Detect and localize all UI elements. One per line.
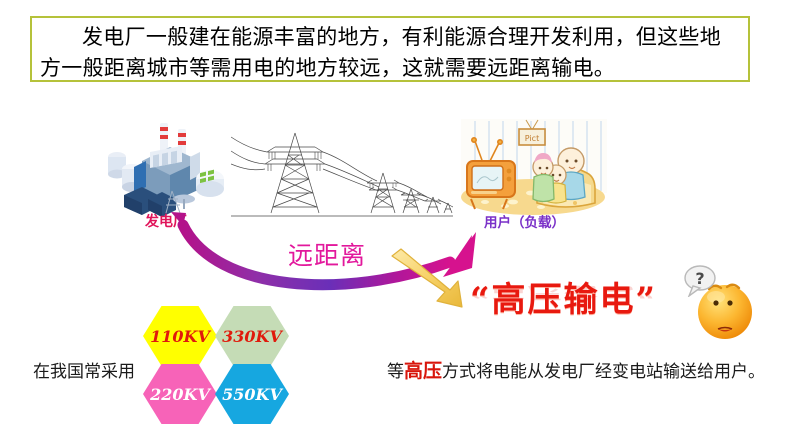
svg-text:Pict: Pict — [525, 134, 539, 143]
slide-canvas: 发电厂一般建在能源丰富的地方，有利能源合理开发利用，但这些地方一般距离城市等需用… — [0, 0, 794, 447]
hex-label: 220KV — [150, 385, 210, 404]
bottom-sentence: 在我国常采用等高压方式将电能从发电厂经变电站输送给用户。 — [33, 356, 765, 383]
long-distance-label: 远距离 — [288, 236, 366, 272]
hex-label: 110KV — [150, 327, 210, 346]
bottom-part3: 方式将电能从发电厂经变电站输送给用户。 — [442, 357, 765, 382]
intro-paragraph: 发电厂一般建在能源丰富的地方，有利能源合理开发利用，但这些地方一般距离城市等需用… — [40, 22, 740, 84]
transmission-tower-line-art — [231, 117, 453, 221]
question-mark-glyph: ? — [695, 269, 704, 288]
pointer-arrow — [392, 249, 462, 307]
family-watching-tv-illustration: Pict — [455, 117, 611, 221]
power-plant-illustration — [104, 117, 226, 219]
high-voltage-title: “高压输电” — [470, 272, 657, 321]
question-speech-bubble: ? — [683, 265, 719, 297]
hex-label: 330KV — [222, 327, 282, 346]
intro-text-box: 发电厂一般建在能源丰富的地方，有利能源合理开发利用，但这些地方一般距离城市等需用… — [30, 16, 750, 82]
power-plant-label: 发电厂 — [145, 211, 187, 231]
bottom-highlight: 高压 — [404, 360, 442, 382]
user-load-label: 用户（负载） — [484, 211, 565, 231]
bottom-part1: 在我国常采用 — [33, 357, 135, 382]
hex-label: 550KV — [222, 385, 282, 404]
bottom-part2: 等 — [387, 357, 404, 382]
